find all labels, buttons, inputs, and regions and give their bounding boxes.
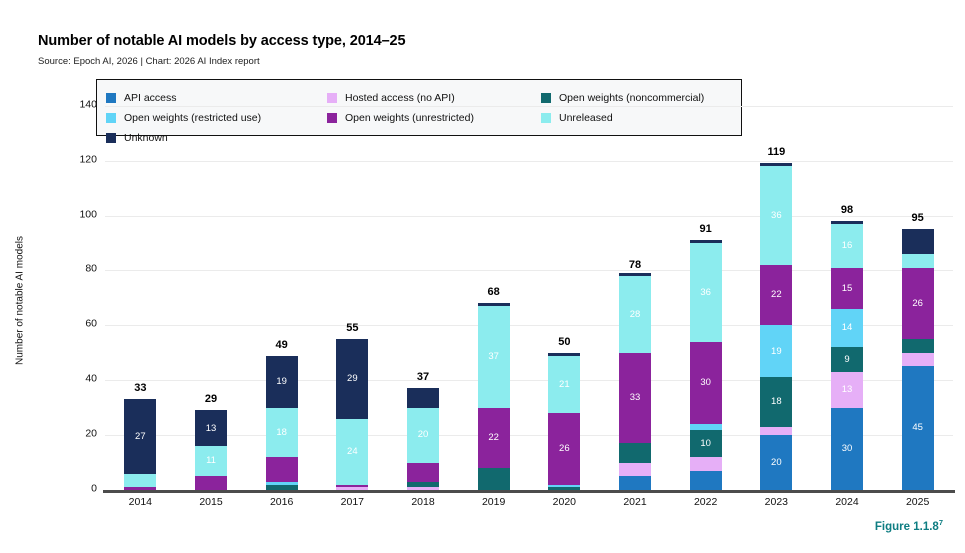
bar-segment[interactable]: 14 — [831, 309, 863, 347]
bar-segment-value: 13 — [842, 385, 853, 395]
bar-segment[interactable] — [548, 485, 580, 488]
bar-segment-value: 20 — [418, 430, 429, 440]
bar-segment[interactable]: 27 — [124, 399, 156, 473]
bar-2016[interactable]: 181949 — [266, 92, 298, 490]
bar-segment[interactable] — [266, 482, 298, 485]
bar-segment[interactable]: 20 — [407, 408, 439, 463]
y-axis-tick-label: 20 — [57, 428, 97, 440]
bar-segment[interactable] — [124, 474, 156, 488]
gridline — [105, 106, 953, 107]
bar-segment[interactable]: 21 — [548, 356, 580, 414]
chart-root: Number of notable AI models by access ty… — [0, 0, 965, 553]
bar-total-label: 98 — [817, 204, 877, 216]
bar-segment[interactable]: 11 — [195, 446, 227, 476]
bar-segment-value: 22 — [771, 290, 782, 300]
x-axis-tick-label: 2025 — [888, 496, 948, 508]
bar-segment[interactable]: 37 — [478, 306, 510, 408]
bar-segment[interactable]: 20 — [760, 435, 792, 490]
bar-segment[interactable]: 22 — [760, 265, 792, 325]
bar-segment-value: 9 — [844, 355, 849, 365]
figure-tag-superscript: 7 — [939, 518, 943, 527]
bar-segment[interactable] — [407, 388, 439, 407]
bar-segment[interactable] — [690, 471, 722, 490]
x-axis-tick-label: 2021 — [605, 496, 665, 508]
bar-segment[interactable] — [548, 353, 580, 356]
bar-segment-value: 33 — [630, 393, 641, 403]
bar-segment[interactable]: 30 — [690, 342, 722, 424]
bar-segment[interactable]: 30 — [831, 408, 863, 490]
gridline — [105, 325, 953, 326]
bar-segment[interactable] — [619, 443, 651, 462]
bar-2023[interactable]: 2018192236119 — [760, 92, 792, 490]
bar-2024[interactable]: 3013914151698 — [831, 92, 863, 490]
gridline — [105, 435, 953, 436]
y-axis-tick-label: 100 — [57, 208, 97, 220]
bar-segment[interactable]: 19 — [760, 325, 792, 377]
gridline — [105, 380, 953, 381]
bar-segment[interactable] — [124, 487, 156, 490]
bar-total-label: 119 — [746, 146, 806, 158]
bar-segment[interactable]: 15 — [831, 268, 863, 309]
x-axis-tick-label: 2023 — [746, 496, 806, 508]
bar-total-label: 29 — [181, 393, 241, 405]
bar-segment[interactable] — [266, 457, 298, 482]
bar-segment[interactable]: 13 — [831, 372, 863, 408]
bar-segment-value: 26 — [912, 299, 923, 309]
bar-segment[interactable]: 24 — [336, 419, 368, 485]
bar-segment[interactable]: 36 — [760, 166, 792, 265]
y-axis-tick-label: 60 — [57, 318, 97, 330]
bar-segment-value: 11 — [206, 456, 216, 466]
bar-2021[interactable]: 332878 — [619, 92, 651, 490]
page-title: Number of notable AI models by access ty… — [38, 33, 405, 49]
bar-segment[interactable]: 22 — [478, 408, 510, 468]
bar-segment[interactable] — [690, 240, 722, 243]
bar-segment-value: 37 — [488, 352, 499, 362]
bar-segment[interactable]: 33 — [619, 353, 651, 444]
bar-segment[interactable] — [619, 463, 651, 477]
bar-segment[interactable] — [760, 427, 792, 435]
bar-segment[interactable]: 18 — [760, 377, 792, 426]
bar-segment-value: 19 — [276, 377, 287, 387]
bar-segment-value: 16 — [842, 241, 853, 251]
bar-segment-value: 30 — [700, 378, 711, 388]
y-axis-tick-label: 140 — [57, 98, 97, 110]
bar-segment[interactable] — [760, 163, 792, 166]
bar-2022[interactable]: 10303691 — [690, 92, 722, 490]
bar-segment[interactable] — [478, 468, 510, 490]
bar-segment[interactable] — [266, 485, 298, 490]
bar-segment[interactable]: 16 — [831, 224, 863, 268]
bar-segment-value: 24 — [347, 447, 358, 457]
bar-total-label: 50 — [534, 336, 594, 348]
gridline — [105, 270, 953, 271]
bar-segment[interactable]: 28 — [619, 276, 651, 353]
gridline — [105, 161, 953, 162]
bar-total-label: 49 — [252, 339, 312, 351]
bar-segment-value: 15 — [842, 284, 853, 294]
bar-segment[interactable] — [195, 476, 227, 490]
x-axis-tick-label: 2014 — [110, 496, 170, 508]
bar-segment[interactable]: 26 — [548, 413, 580, 484]
chart-source: Source: Epoch AI, 2026 | Chart: 2026 AI … — [38, 56, 260, 67]
bar-2019[interactable]: 223768 — [478, 92, 510, 490]
y-axis-tick-label: 80 — [57, 263, 97, 275]
bar-segment[interactable] — [336, 487, 368, 490]
bar-segment[interactable] — [902, 339, 934, 353]
bar-segment[interactable] — [902, 229, 934, 254]
bar-2025[interactable]: 452695 — [902, 92, 934, 490]
x-axis-tick-label: 2024 — [817, 496, 877, 508]
x-axis-tick-label: 2020 — [534, 496, 594, 508]
bar-segment[interactable] — [690, 457, 722, 471]
bar-segment-value: 14 — [842, 323, 853, 333]
x-axis-tick-label: 2019 — [464, 496, 524, 508]
bar-total-label: 68 — [464, 286, 524, 298]
bar-total-label: 91 — [676, 223, 736, 235]
bar-segment[interactable]: 19 — [266, 356, 298, 408]
bar-segment[interactable]: 36 — [690, 243, 722, 342]
bar-total-label: 55 — [322, 322, 382, 334]
x-axis-tick-label: 2018 — [393, 496, 453, 508]
bar-segment-value: 13 — [206, 424, 217, 434]
x-axis-line — [103, 490, 955, 493]
figure-tag-label: Figure 1.1.8 — [875, 521, 939, 533]
figure-tag: Figure 1.1.87 — [875, 518, 943, 533]
x-axis-tick-label: 2016 — [252, 496, 312, 508]
x-axis-tick-label: 2015 — [181, 496, 241, 508]
bar-2015[interactable]: 111329 — [195, 92, 227, 490]
bar-2017[interactable]: 242955 — [336, 92, 368, 490]
bar-total-label: 33 — [110, 382, 170, 394]
bar-2018[interactable]: 2037 — [407, 92, 439, 490]
bar-segment-value: 27 — [135, 432, 146, 442]
bar-total-label: 37 — [393, 371, 453, 383]
y-axis-tick-label: 0 — [57, 483, 97, 495]
bar-segment-value: 19 — [771, 347, 782, 357]
bar-segment[interactable]: 29 — [336, 339, 368, 419]
bar-segment-value: 28 — [630, 310, 641, 320]
bar-segment[interactable]: 45 — [902, 366, 934, 490]
bar-segment[interactable] — [690, 424, 722, 429]
bar-segment[interactable] — [407, 487, 439, 490]
x-axis-tick-label: 2022 — [676, 496, 736, 508]
bar-segment-value: 36 — [700, 288, 711, 298]
bar-segment[interactable] — [902, 353, 934, 367]
bar-segment-value: 26 — [559, 444, 570, 454]
bar-segment[interactable]: 10 — [690, 430, 722, 457]
bar-segment[interactable]: 13 — [195, 410, 227, 446]
y-axis-tick-label: 40 — [57, 373, 97, 385]
bar-total-label: 78 — [605, 259, 665, 271]
bar-segment[interactable] — [548, 487, 580, 490]
bar-segment[interactable] — [407, 482, 439, 487]
bar-segment-value: 29 — [347, 374, 358, 384]
bar-segment[interactable] — [619, 476, 651, 490]
bar-2014[interactable]: 2733 — [124, 92, 156, 490]
bar-segment-value: 18 — [771, 397, 782, 407]
bar-segment[interactable] — [831, 221, 863, 224]
bar-segment-value: 18 — [276, 428, 287, 438]
bar-segment[interactable]: 18 — [266, 408, 298, 457]
x-axis-tick-label: 2017 — [322, 496, 382, 508]
bar-segment-value: 21 — [559, 380, 570, 390]
y-axis-tick-label: 120 — [57, 153, 97, 165]
bar-segment-value: 30 — [842, 444, 853, 454]
bar-segment-value: 10 — [700, 439, 711, 449]
bar-segment-value: 20 — [771, 458, 782, 468]
bar-segment-value: 22 — [488, 433, 499, 443]
plot-area: 0204060801001201402733201411132920151819… — [105, 92, 953, 490]
bar-segment[interactable] — [902, 254, 934, 268]
bar-2020[interactable]: 262150 — [548, 92, 580, 490]
bar-segment[interactable] — [478, 303, 510, 306]
bar-cap-rule — [619, 273, 651, 276]
bar-segment[interactable]: 26 — [902, 268, 934, 339]
bar-total-label: 95 — [888, 212, 948, 224]
bar-segment[interactable] — [336, 485, 368, 488]
bar-segment[interactable]: 9 — [831, 347, 863, 372]
bar-segment[interactable] — [407, 463, 439, 482]
bar-segment-value: 45 — [912, 423, 923, 433]
y-axis-title: Number of notable AI models — [15, 151, 26, 451]
bar-segment-value: 36 — [771, 211, 782, 221]
